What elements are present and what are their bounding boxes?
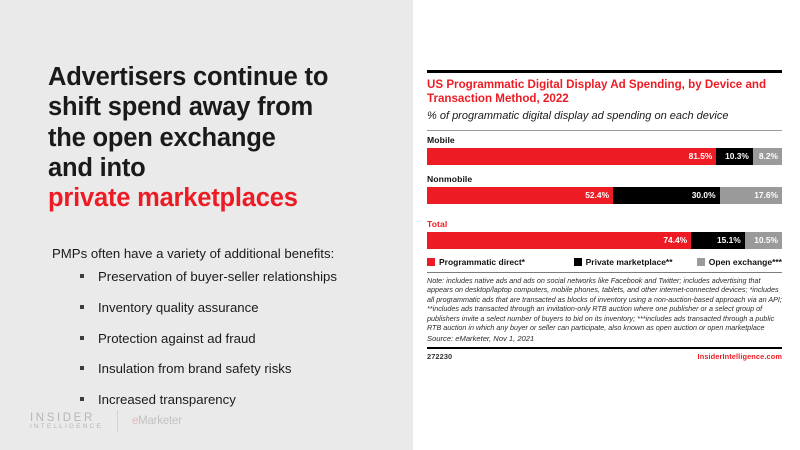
- legend-label: Private marketplace**: [586, 257, 673, 267]
- chart-title: US Programmatic Digital Display Ad Spend…: [427, 78, 782, 107]
- left-content-panel: Advertisers continue to shift spend away…: [0, 0, 413, 450]
- body-intro-text: PMPs often have a variety of additional …: [52, 245, 402, 263]
- bar-group-label-nonmobile: Nonmobile: [427, 174, 782, 184]
- bar-row: 52.4% 30.0% 17.6%: [427, 187, 782, 204]
- bar-row: 74.4% 15.1% 10.5%: [427, 232, 782, 249]
- bar-segment-private-marketplace: 15.1%: [691, 232, 745, 249]
- bullet-square-icon: [80, 397, 84, 401]
- legend-item-programmatic-direct: Programmatic direct*: [427, 257, 574, 267]
- list-item-label: Insulation from brand safety risks: [98, 361, 292, 376]
- emarketer-logo-name: Marketer: [138, 415, 182, 427]
- list-item-label: Increased transparency: [98, 392, 236, 407]
- card-site-url: InsiderIntelligence.com: [698, 352, 782, 361]
- legend-swatch-icon: [697, 258, 705, 266]
- legend-item-open-exchange: Open exchange***: [697, 257, 782, 267]
- bar-segment-private-marketplace: 10.3%: [716, 148, 753, 165]
- headline-line-1: Advertisers continue to: [48, 62, 388, 92]
- emarketer-logo: eMarketer: [132, 415, 182, 427]
- chart-note: Note: includes native ads and ads on soc…: [427, 276, 782, 333]
- list-item: Insulation from brand safety risks: [78, 360, 398, 378]
- total-spacer: [427, 212, 782, 219]
- card-id-number: 272230: [427, 352, 452, 361]
- list-item-label: Protection against ad fraud: [98, 331, 256, 346]
- headline-line-3: the open exchange: [48, 123, 388, 153]
- slide-canvas: Advertisers continue to shift spend away…: [0, 0, 800, 450]
- list-item: Protection against ad fraud: [78, 330, 398, 348]
- legend-item-private-marketplace: Private marketplace**: [574, 257, 697, 267]
- bar-segment-private-marketplace: 30.0%: [613, 187, 720, 204]
- list-item: Inventory quality assurance: [78, 299, 398, 317]
- bar-segment-programmatic-direct: 81.5%: [427, 148, 716, 165]
- list-item-label: Preservation of buyer-seller relationshi…: [98, 269, 337, 284]
- headline-highlight: private marketplaces: [48, 183, 388, 213]
- bullet-square-icon: [80, 366, 84, 370]
- list-item: Preservation of buyer-seller relationshi…: [78, 268, 398, 286]
- legend-swatch-icon: [427, 258, 435, 266]
- insider-logo-line-1: INSIDER: [30, 412, 103, 424]
- benefits-list: Preservation of buyer-seller relationshi…: [78, 268, 398, 422]
- bar-segment-open-exchange: 10.5%: [745, 232, 782, 249]
- chart-divider-rule: [427, 130, 782, 131]
- bar-segment-programmatic-direct: 52.4%: [427, 187, 613, 204]
- bar-group-label-total: Total: [427, 219, 782, 229]
- bar-segment-open-exchange: 17.6%: [720, 187, 782, 204]
- chart-card: US Programmatic Digital Display Ad Spend…: [427, 70, 782, 361]
- card-footer: 272230 InsiderIntelligence.com: [427, 352, 782, 361]
- card-bottom-rule: [427, 347, 782, 349]
- logo-divider: [117, 410, 118, 432]
- bar-group-label-mobile: Mobile: [427, 135, 782, 145]
- bar-segment-open-exchange: 8.2%: [753, 148, 782, 165]
- headline-line-4: and into: [48, 153, 388, 183]
- list-item-label: Inventory quality assurance: [98, 300, 259, 315]
- brand-footer: INSIDER INTELLIGENCE eMarketer: [30, 410, 182, 432]
- legend-swatch-icon: [574, 258, 582, 266]
- list-item: Increased transparency: [78, 391, 398, 409]
- legend-label: Open exchange***: [709, 257, 782, 267]
- bar-row: 81.5% 10.3% 8.2%: [427, 148, 782, 165]
- chart-legend: Programmatic direct* Private marketplace…: [427, 257, 782, 267]
- chart-source: Source: eMarketer, Nov 1, 2021: [427, 334, 782, 344]
- legend-label: Programmatic direct*: [439, 257, 525, 267]
- insider-logo-line-2: INTELLIGENCE: [30, 424, 103, 431]
- bullet-square-icon: [80, 305, 84, 309]
- card-top-rule: [427, 70, 782, 73]
- chart-subtitle: % of programmatic digital display ad spe…: [427, 110, 782, 124]
- bullet-square-icon: [80, 336, 84, 340]
- headline-line-2: shift spend away from: [48, 92, 388, 122]
- bullet-square-icon: [80, 274, 84, 278]
- bar-segment-programmatic-direct: 74.4%: [427, 232, 691, 249]
- page-title: Advertisers continue to shift spend away…: [48, 62, 388, 214]
- note-divider-rule: [427, 272, 782, 273]
- insider-intelligence-logo: INSIDER INTELLIGENCE: [30, 412, 103, 431]
